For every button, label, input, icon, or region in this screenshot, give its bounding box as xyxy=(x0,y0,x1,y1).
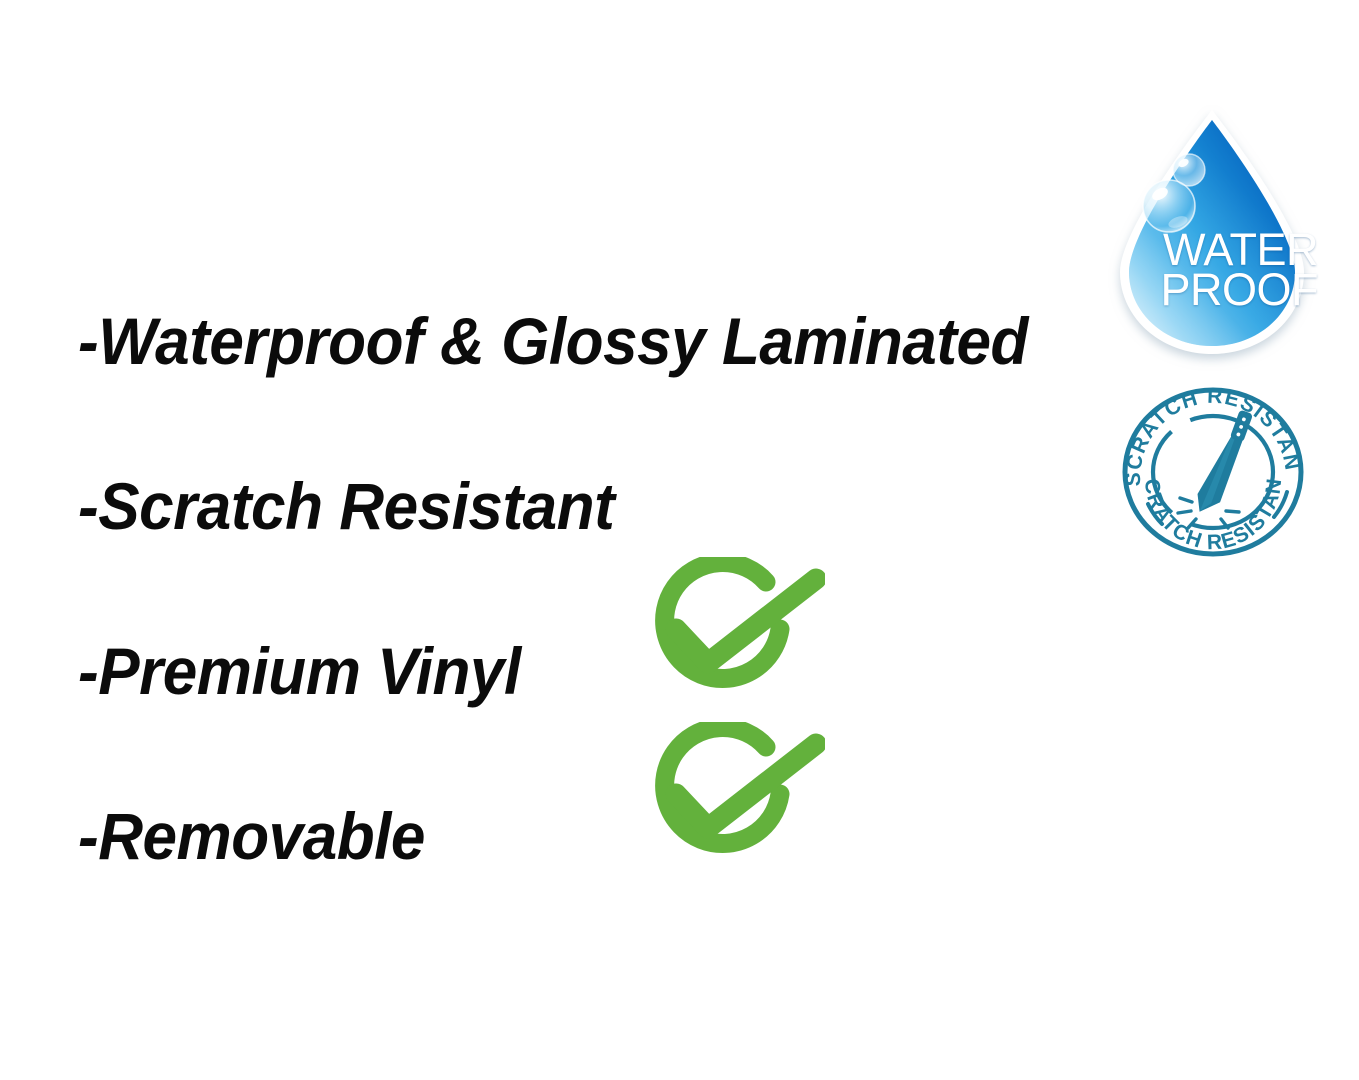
knife-icon xyxy=(1192,406,1253,518)
feature-label-waterproof-glossy-laminated: -Waterproof & Glossy Laminated xyxy=(78,308,1028,374)
feature-row-removable: -Removable xyxy=(78,753,1088,918)
scratch-resistant-badge: SCRATCH RESISTANT SCRATCH RESISTANT xyxy=(1118,386,1308,558)
circle-check-icon-removable xyxy=(640,722,825,872)
circle-check-icon xyxy=(640,722,825,872)
feature-label-premium-vinyl: -Premium Vinyl xyxy=(78,638,521,704)
feature-highlight-graphic: -Waterproof & Glossy Laminated -Scratch … xyxy=(0,0,1359,1080)
feature-row-scratch-resistant: -Scratch Resistant xyxy=(78,423,1088,588)
feature-list: -Waterproof & Glossy Laminated -Scratch … xyxy=(78,258,1088,918)
bubble-large-icon xyxy=(1143,180,1195,232)
circle-check-icon xyxy=(640,557,825,707)
feature-row-premium-vinyl: -Premium Vinyl xyxy=(78,588,1088,753)
circle-check-icon-premium-vinyl xyxy=(640,557,825,707)
feature-row-waterproof-glossy-laminated: -Waterproof & Glossy Laminated xyxy=(78,258,1088,423)
knife-stamp-icon: SCRATCH RESISTANT SCRATCH RESISTANT xyxy=(1118,386,1308,558)
water-drop-icon xyxy=(1108,108,1316,356)
feature-label-removable: -Removable xyxy=(78,803,425,869)
waterproof-badge: WATER PROOF xyxy=(1108,108,1316,356)
feature-label-scratch-resistant: -Scratch Resistant xyxy=(78,473,614,539)
